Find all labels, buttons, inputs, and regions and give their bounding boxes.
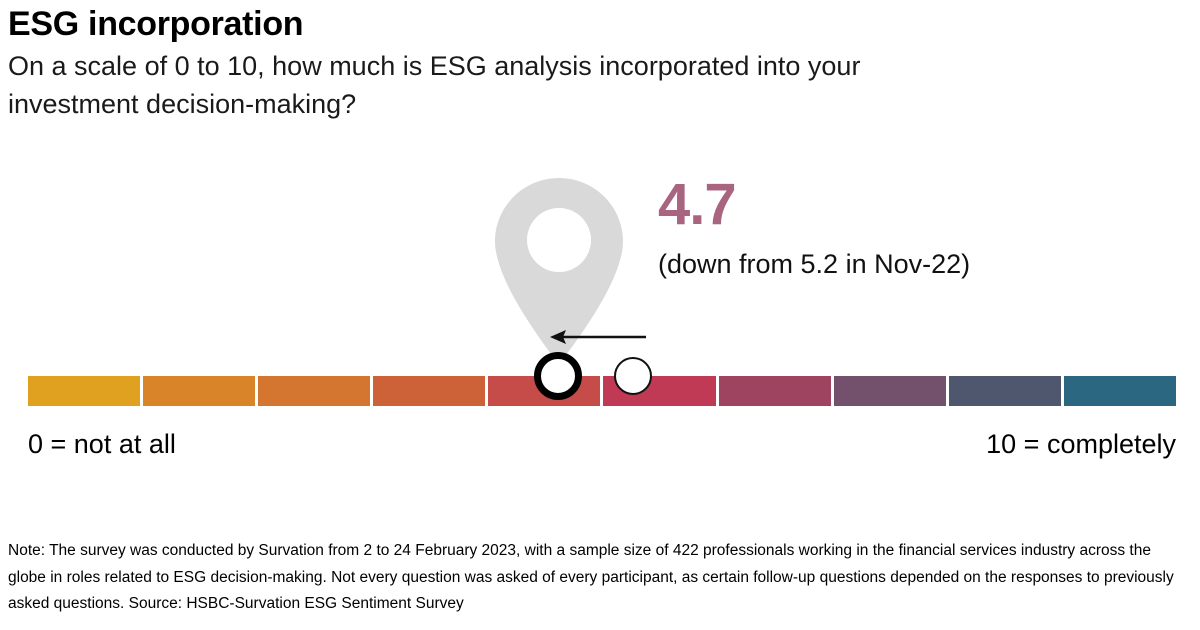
current-value-marker bbox=[534, 352, 582, 400]
scale-segment bbox=[1064, 376, 1176, 406]
survey-question: On a scale of 0 to 10, how much is ESG a… bbox=[8, 47, 958, 124]
scale-segment bbox=[28, 376, 140, 406]
pointer-arrow-icon bbox=[548, 325, 648, 349]
footnote-note-and-source: Note: The survey was conducted by Survat… bbox=[8, 538, 1188, 618]
scale-segment bbox=[258, 376, 370, 406]
current-score-value: 4.7 bbox=[658, 176, 1118, 234]
page-title: ESG incorporation bbox=[8, 6, 1188, 43]
header: ESG incorporation On a scale of 0 to 10,… bbox=[8, 6, 1188, 123]
scale-label-max: 10 = completely bbox=[986, 428, 1176, 460]
scale-endpoint-labels: 0 = not at all 10 = completely bbox=[28, 428, 1176, 460]
scale-segment bbox=[719, 376, 831, 406]
value-callout: 4.7 (down from 5.2 in Nov-22) bbox=[658, 176, 1118, 280]
score-comparison-note: (down from 5.2 in Nov-22) bbox=[658, 248, 1118, 280]
previous-value-marker bbox=[614, 357, 652, 395]
scale-bar bbox=[28, 376, 1176, 406]
scale-segment bbox=[949, 376, 1061, 406]
scale-segment bbox=[143, 376, 255, 406]
infographic-canvas: ESG incorporation On a scale of 0 to 10,… bbox=[0, 0, 1200, 630]
scale-segment bbox=[373, 376, 485, 406]
scale-label-min: 0 = not at all bbox=[28, 428, 176, 460]
scale-segment bbox=[834, 376, 946, 406]
